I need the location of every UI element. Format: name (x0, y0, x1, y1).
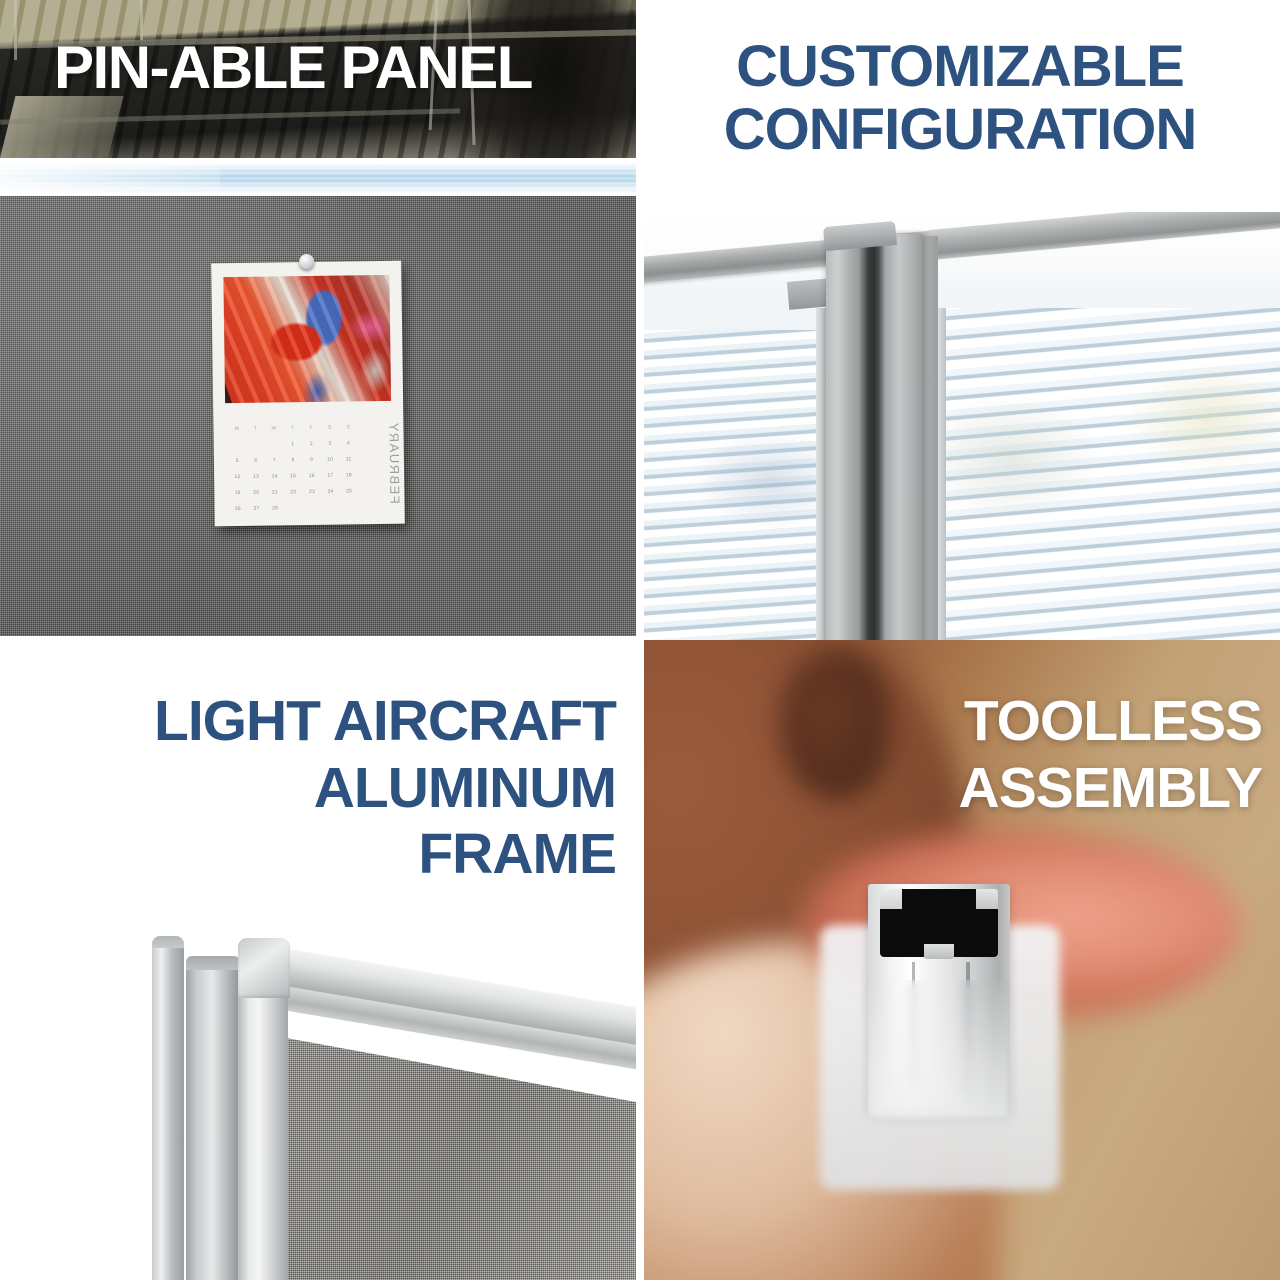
frame-fabric-insert (286, 1026, 640, 1280)
calendar-weekday: T (246, 426, 265, 432)
feature-label-line-2: CONFIGURATION (640, 99, 1280, 162)
calendar-day: 7 (265, 457, 284, 463)
feature-label-line-1: TOOLLESS (640, 688, 1262, 755)
calendar-day: 14 (265, 473, 284, 479)
calendar-day: 3 (321, 441, 340, 447)
calendar-artwork-strokes (223, 275, 391, 403)
calendar-artwork (223, 275, 391, 403)
calendar-week-row: 19 20 21 22 23 24 25 (228, 483, 358, 501)
calendar-weekday: T (283, 425, 302, 431)
feature-label-light-aircraft-aluminum-frame: LIGHT AIRCRAFT ALUMINUM FRAME (0, 688, 616, 888)
calendar-day: 22 (284, 489, 303, 495)
frame-top-rail (256, 945, 640, 1061)
frame-back-post-cap (152, 936, 184, 958)
feature-label-line-2: ALUMINUM (0, 755, 616, 822)
feature-label-line-3: FRAME (0, 821, 616, 888)
panel-light-aircraft-aluminum-frame: LIGHT AIRCRAFT ALUMINUM FRAME (0, 640, 640, 1280)
collage-horizontal-gutter (0, 636, 644, 644)
window-blinds-right (940, 308, 1280, 640)
panel-toolless-assembly: TOOLLESS ASSEMBLY (640, 640, 1280, 1280)
calendar-day: 4 (339, 440, 358, 446)
frame-mid-post-cap (186, 956, 240, 980)
calendar-weekday: M (227, 426, 246, 432)
push-pin-icon (299, 254, 314, 269)
feature-label-line-1: CUSTOMIZABLE (640, 36, 1280, 99)
feature-label-line-2: ASSEMBLY (640, 755, 1262, 822)
calendar-week-row: 26 27 28 (228, 499, 358, 517)
calendar-day: 15 (284, 473, 303, 479)
calendar-week-row: 5 6 7 8 9 10 11 (228, 451, 358, 469)
calendar-day: 21 (265, 489, 284, 495)
panel-customizable-configuration: CUSTOMIZABLE CONFIGURATION (640, 0, 1280, 640)
calendar-day: 20 (247, 490, 266, 496)
calendar-day: 12 (228, 474, 247, 480)
frame-back-post (152, 948, 184, 1280)
calendar-day: 27 (247, 506, 266, 512)
calendar-day: 16 (302, 473, 321, 479)
panel-pin-able-panel: M T W T F S S 1 2 3 4 (0, 0, 640, 640)
frame-corner-block (238, 938, 290, 998)
channel-notch (924, 944, 954, 959)
calendar-day: 24 (321, 489, 340, 495)
channel-lip-left (880, 889, 902, 909)
calendar-day: 11 (339, 456, 358, 462)
calendar-header-row: M T W T F S S (227, 419, 357, 437)
calendar-weekday: F (302, 425, 321, 431)
calendar-day: 5 (228, 458, 247, 464)
channel-blur-overlay (868, 980, 1010, 1120)
calendar-day: 18 (340, 472, 359, 478)
calendar-week-row: 1 2 3 4 (228, 435, 358, 453)
feature-label-toolless-assembly: TOOLLESS ASSEMBLY (640, 688, 1262, 821)
calendar-day: 8 (284, 457, 303, 463)
calendar-day: 17 (321, 473, 340, 479)
aluminum-channel-extrusion (868, 884, 1010, 1114)
frame-mid-post (186, 970, 240, 1280)
frame-center-post (826, 234, 922, 640)
ceiling-wall (0, 96, 123, 158)
calendar-day: 6 (246, 458, 265, 464)
frame-main-post (238, 950, 288, 1280)
ceiling-rod (14, 0, 17, 60)
calendar-grid: M T W T F S S 1 2 3 4 (227, 419, 358, 512)
ceiling-light-strip (0, 158, 640, 198)
calendar-day: 13 (247, 474, 266, 480)
calendar-day: 19 (228, 490, 247, 496)
frame-top-rail-second (929, 212, 1280, 260)
channel-lip-right (976, 889, 998, 909)
calendar-day: 23 (303, 489, 322, 495)
calendar-weekday: W (265, 425, 284, 431)
calendar-weekday: S (339, 424, 358, 430)
divider-configuration-photo (640, 212, 1280, 640)
feature-label-line-1: LIGHT AIRCRAFT (0, 688, 616, 755)
calendar-day: 28 (266, 505, 285, 511)
feature-label-customizable-configuration: CUSTOMIZABLE CONFIGURATION (640, 36, 1280, 161)
calendar-day: 10 (321, 457, 340, 463)
calendar-day: 25 (340, 488, 359, 494)
calendar-weekday: S (320, 425, 339, 431)
calendar-day: 2 (302, 441, 321, 447)
frame-top-rail-face (262, 983, 640, 1078)
feature-collage: M T W T F S S 1 2 3 4 (0, 0, 1280, 1280)
feature-label-pin-able-panel: PIN-ABLE PANEL (54, 36, 614, 99)
calendar-month-label: FEBRUARY (361, 421, 402, 520)
calendar-day: 1 (283, 441, 302, 447)
calendar-week-row: 12 13 14 15 16 17 18 (228, 467, 358, 485)
calendar-day: 9 (302, 457, 321, 463)
pinned-calendar: M T W T F S S 1 2 3 4 (211, 261, 405, 527)
calendar-day: 26 (229, 506, 248, 512)
